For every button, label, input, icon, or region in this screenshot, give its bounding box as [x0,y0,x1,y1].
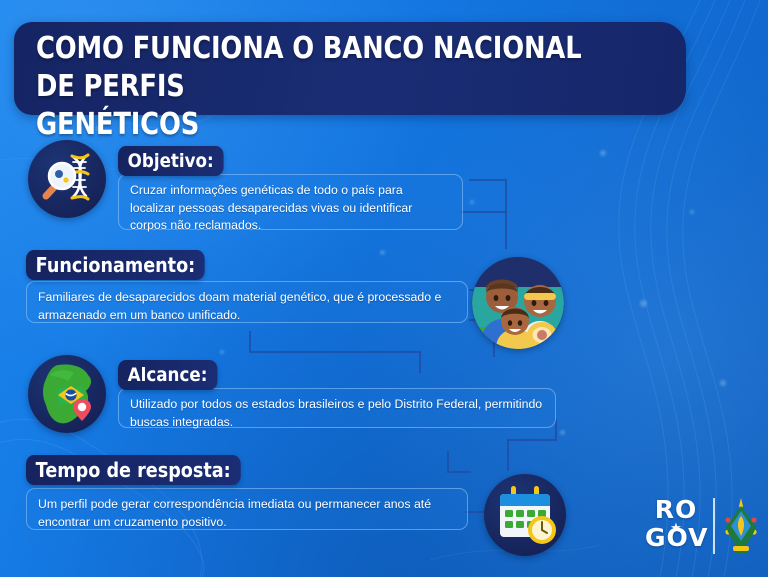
calendar-clock-icon [484,474,566,556]
section-label-tempo-de-resposta: Tempo de resposta: [26,455,240,485]
brazil-map-icon [28,355,106,433]
section-label-alcance: Alcance: [118,360,217,390]
section-body-tempo-de-resposta: Um perfil pode gerar correspondência ime… [26,488,468,530]
family-group-icon [472,257,564,349]
section-body-alcance: Utilizado por todos os estados brasileir… [118,388,556,428]
page-title-line-2: GENÉTICOS [36,106,586,144]
infographic-canvas: COMO FUNCIONA O BANCO NACIONAL DE PERFIS… [0,0,768,577]
gov-logo: RO ★ GOV [645,492,757,560]
section-body-funcionamento: Familiares de desaparecidos doam materia… [26,281,468,323]
dna-magnifier-icon [28,140,106,218]
title-banner: COMO FUNCIONA O BANCO NACIONAL DE PERFIS… [14,22,686,115]
section-body-objetivo: Cruzar informações genéticas de todo o p… [118,174,463,230]
section-label-funcionamento: Funcionamento: [26,250,205,280]
page-title: COMO FUNCIONA O BANCO NACIONAL DE PERFIS… [36,30,586,144]
section-label-objetivo: Objetivo: [118,146,223,176]
page-title-line-1: COMO FUNCIONA O BANCO NACIONAL DE PERFIS [36,30,586,106]
logo-divider [713,498,715,554]
rondonia-coat-of-arms-icon [721,496,761,556]
logo-gov-text: GOV [645,525,707,551]
